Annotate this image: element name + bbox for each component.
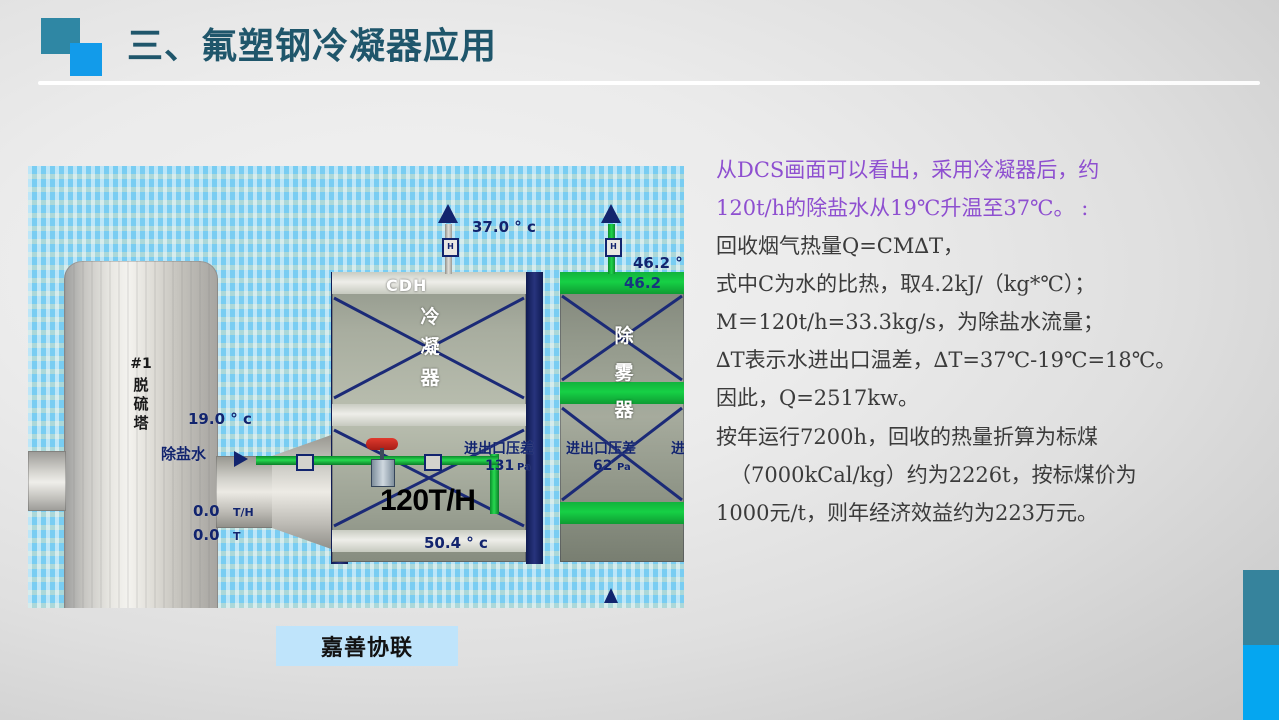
bottom-flow-arrow-icon [604,588,618,603]
duct-segment-tapered [272,434,334,550]
desulfurization-tower-vessel [64,261,218,608]
tower-name-char-1: 脱 [112,376,170,395]
condenser-stack-arrow-icon [438,204,458,223]
dp-unit-1: Pa [517,462,531,473]
condenser-outlet-temp-reading: 50.4 ° c [424,534,488,552]
image-caption-box: 嘉善协联 [276,626,458,666]
demister-name-label: 除 雾 器 [604,318,644,429]
body-line: ∆T表示水进出口温差，∆T=37℃-19℃=18℃。 [716,345,1236,376]
water-inlet-temp-reading: 19.0 ° c [188,410,252,428]
page-title: 三、氟塑钢冷凝器应用 [127,17,497,69]
body-line: M＝120t/h=33.3kg/s，为除盐水流量； [716,307,1236,338]
demister-name-char-3: 器 [604,392,644,429]
dp-value-1: 131 [485,458,514,474]
body-line: （7000kCal/kg）约为2226t，按标煤价为 [716,460,1236,491]
control-valve-body-icon [371,459,395,487]
tower-tag: #1 [112,356,170,374]
tower-left-pipe-stub [28,451,66,511]
condenser-stack-meter-icon: H [442,238,459,257]
demister-name-char-2: 雾 [604,355,644,392]
tower-name-char-3: 塔 [112,414,170,433]
decorative-square-light [70,43,102,76]
body-line: 回收烟气热量Q=CM∆T， [716,231,1236,262]
water-totalizer-unit: T [233,530,241,543]
condenser-name-char-3: 器 [404,363,456,393]
body-text-block: 从DCS画面可以看出，采用冷凝器后，约 120t/h的除盐水从19℃升温至37℃… [716,155,1236,536]
flow-rate-annotation: 120T/H [380,484,475,518]
tower-name-char-2: 硫 [112,395,170,414]
condenser-name-char-1: 冷 [404,302,456,332]
body-line: 因此，Q=2517kw。 [716,383,1236,414]
accent-bar-bottom-segment [1243,645,1279,720]
title-divider [38,81,1260,85]
dp-label-3: 进 [671,438,684,458]
dp-label-2: 进出口压差 [566,438,636,458]
water-inlet-label: 除盐水 [161,443,206,464]
body-line: 式中C为水的比热，取4.2kJ/（kg*℃）； [716,269,1236,300]
water-flow-value: 0.0 [193,502,220,520]
water-inlet-direction-arrow-icon [234,451,248,467]
condenser-name-label: 冷 凝 器 [404,302,456,393]
dp-label-1: 进出口压差 [464,438,534,458]
condenser-tag: CDH [386,276,427,295]
body-line: 1000元/t，则年经济效益约为223万元。 [716,498,1236,529]
stack-temp-left-reading: 37.0 ° c [472,218,536,236]
dp-value-2: 62 [593,458,612,474]
presentation-slide: 三、氟塑钢冷凝器应用 #1 脱 硫 塔 [0,0,1279,720]
dp-unit-2: Pa [617,462,631,473]
body-line: 从DCS画面可以看出，采用冷凝器后，约 [716,155,1236,186]
condenser-name-char-2: 凝 [404,332,456,362]
dcs-screenshot-image: #1 脱 硫 塔 CDH 冷 凝 器 [28,166,684,608]
water-inlet-valve-2-icon [424,454,442,471]
water-inlet-pipe [256,456,374,465]
right-accent-bar [1243,570,1279,720]
water-totalizer-value: 0.0 [193,526,220,544]
demister-name-char-1: 除 [604,318,644,355]
demister-stack-arrow-icon [601,204,621,223]
desulfurization-tower-label: #1 脱 硫 塔 [112,356,170,433]
slide-title-bar: 三、氟塑钢冷凝器应用 [0,0,1279,92]
condenser-vessel: CDH 冷 凝 器 50.4 ° c [332,272,526,562]
demister-inner-temp-reading: 46.2 [624,274,661,292]
body-line: 120t/h的除盐水从19℃升温至37℃。 : [716,193,1236,224]
stack-temp-right-reading: 46.2 ° c [633,254,684,272]
accent-bar-top-segment [1243,570,1279,645]
body-line: 按年运行7200h，回收的热量折算为标煤 [716,422,1236,453]
condenser-right-column [526,272,543,564]
water-inlet-valve-1-icon [296,454,314,471]
demister-stack-meter-icon: H [605,238,622,257]
water-flow-unit: T/H [233,506,254,519]
demister-vessel: 46.2 除 雾 器 [560,272,684,562]
image-caption-text: 嘉善协联 [321,630,413,662]
